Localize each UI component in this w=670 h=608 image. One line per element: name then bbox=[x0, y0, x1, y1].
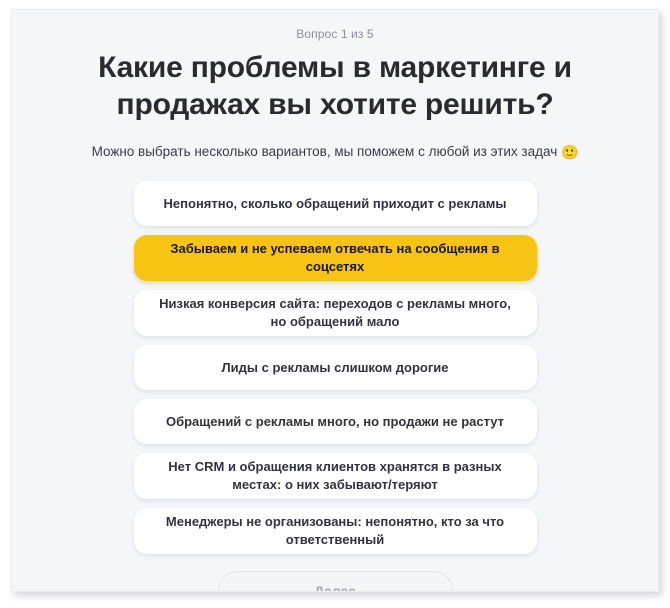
next-button[interactable]: Далее bbox=[218, 571, 453, 592]
smiley-face-icon: 🙂 bbox=[561, 144, 578, 160]
screenshot-frame: Вопрос 1 из 5 Какие проблемы в маркетинг… bbox=[0, 0, 670, 608]
option-label: Менеджеры не организованы: непонятно, кт… bbox=[156, 513, 515, 549]
option-6[interactable]: Нет CRM и обращения клиентов хранятся в … bbox=[134, 453, 537, 499]
option-4[interactable]: Лиды с рекламы слишком дорогие bbox=[134, 345, 537, 390]
option-3[interactable]: Низкая конверсия сайта: переходов с рекл… bbox=[134, 290, 537, 336]
option-label: Забываем и не успеваем отвечать на сообщ… bbox=[156, 240, 515, 276]
option-label: Лиды с рекламы слишком дорогие bbox=[222, 359, 449, 377]
option-2[interactable]: Забываем и не успеваем отвечать на сообщ… bbox=[134, 235, 537, 281]
quiz-card: Вопрос 1 из 5 Какие проблемы в маркетинг… bbox=[11, 9, 659, 592]
step-counter: Вопрос 1 из 5 bbox=[67, 26, 603, 42]
option-label: Непонятно, сколько обращений приходит с … bbox=[164, 195, 507, 213]
quiz-subtitle: Можно выбрать несколько вариантов, мы по… bbox=[67, 142, 603, 162]
option-label: Низкая конверсия сайта: переходов с рекл… bbox=[156, 295, 515, 331]
page-title: Какие проблемы в маркетинге и продажах в… bbox=[67, 49, 603, 123]
option-5[interactable]: Обращений с рекламы много, но продажи не… bbox=[134, 399, 537, 444]
next-button-container: Далее bbox=[67, 571, 603, 592]
option-label: Обращений с рекламы много, но продажи не… bbox=[166, 413, 504, 431]
option-1[interactable]: Непонятно, сколько обращений приходит с … bbox=[134, 181, 537, 226]
options-list: Непонятно, сколько обращений приходит с … bbox=[134, 181, 537, 554]
quiz-subtitle-text: Можно выбрать несколько вариантов, мы по… bbox=[92, 144, 558, 159]
quiz-content: Вопрос 1 из 5 Какие проблемы в маркетинг… bbox=[12, 10, 658, 592]
option-7[interactable]: Менеджеры не организованы: непонятно, кт… bbox=[134, 508, 537, 554]
option-label: Нет CRM и обращения клиентов хранятся в … bbox=[156, 458, 515, 494]
